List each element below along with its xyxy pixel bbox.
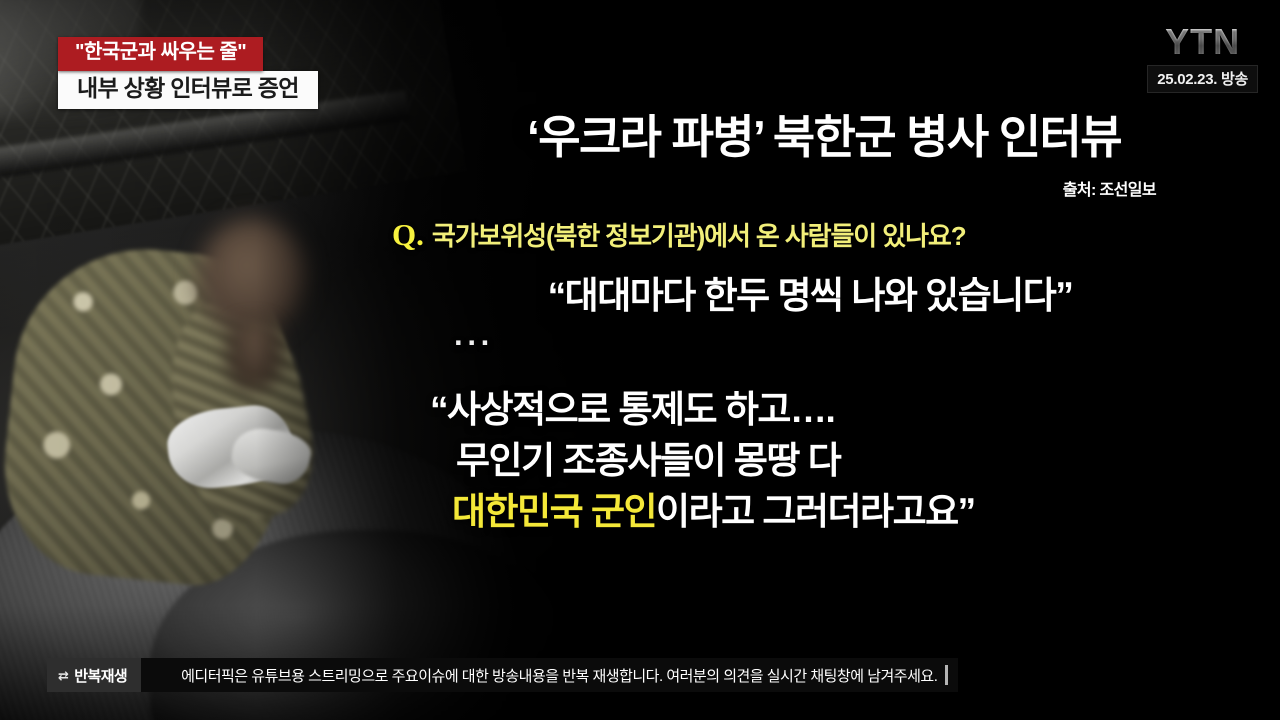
program-title-banner: "한국군과 싸우는 줄" 내부 상황 인터뷰로 증언 <box>58 37 318 109</box>
loop-playback-tag: ⇄ 반복재생 <box>47 658 141 692</box>
ticker-message-area: 에디터픽은 유튜브용 스트리밍으로 주요이슈에 대한 방송내용을 반복 재생합니… <box>141 658 958 692</box>
ticker-caret <box>945 665 948 685</box>
interview-answer-first: “대대마다 한두 명씩 나와 있습니다” <box>392 275 1252 317</box>
answer-line-2: 무인기 조종사들이 몽땅 다 <box>430 436 1252 487</box>
answer-line-1: “사상적으로 통제도 하고…. <box>430 389 834 430</box>
interview-answer-second: “사상적으로 통제도 하고…. 무인기 조종사들이 몽땅 다 대한민국 군인이라… <box>392 385 1252 537</box>
banner-headline-quote: "한국군과 싸우는 줄" <box>58 37 263 71</box>
interview-question-row: Q.국가보위성(북한 정보기관)에서 온 사람들이 있나요? <box>392 216 1252 253</box>
network-logo-block: YTN 25.02.23. 방송 <box>1147 24 1258 93</box>
bottom-ticker-bar: ⇄ 반복재생 에디터픽은 유튜브용 스트리밍으로 주요이슈에 대한 방송내용을 … <box>0 658 1280 692</box>
loop-icon: ⇄ <box>58 669 68 682</box>
interview-transcript: Q.국가보위성(북한 정보기관)에서 온 사람들이 있나요? “대대마다 한두 … <box>392 216 1252 537</box>
page-title: ‘우크라 파병’ 북한군 병사 인터뷰 <box>400 112 1248 164</box>
ticker-message-text: 에디터픽은 유튜브용 스트리밍으로 주요이슈에 대한 방송내용을 반복 재생합니… <box>181 665 937 686</box>
interview-question-text: 국가보위성(북한 정보기관)에서 온 사람들이 있나요? <box>432 221 966 251</box>
broadcast-date-badge: 25.02.23. 방송 <box>1147 65 1258 93</box>
loop-playback-label: 반복재생 <box>74 665 127 686</box>
source-credit: 출처: 조선일보 <box>400 176 1248 200</box>
ellipsis-separator: ··· <box>392 325 1252 361</box>
answer-line-3-rest: 이라고 그러더라고요” <box>656 491 975 532</box>
answer-highlight: 대한민국 군인 <box>452 491 656 532</box>
headline-block: ‘우크라 파병’ 북한군 병사 인터뷰 출처: 조선일보 <box>400 112 1248 200</box>
broadcast-screenshot: "한국군과 싸우는 줄" 내부 상황 인터뷰로 증언 YTN 25.02.23.… <box>0 0 1280 720</box>
question-marker: Q. <box>392 217 424 252</box>
banner-subhead: 내부 상황 인터뷰로 증언 <box>58 71 318 110</box>
ytn-logo: YTN <box>1147 24 1258 60</box>
answer-line-3: 대한민국 군인이라고 그러더라고요” <box>430 487 1252 538</box>
